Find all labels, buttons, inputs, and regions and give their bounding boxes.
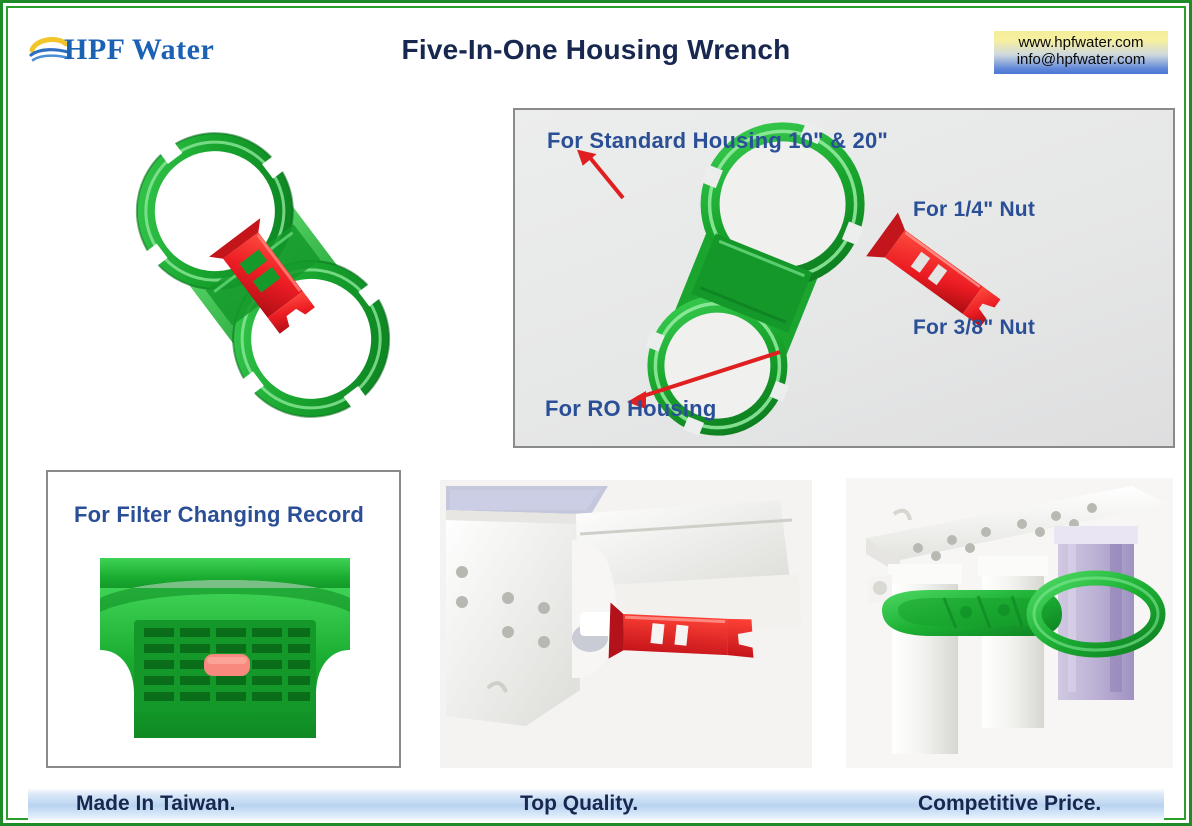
website-text[interactable]: www.hpfwater.com (1000, 34, 1162, 51)
caption-filter-changing-record: For Filter Changing Record (74, 502, 364, 528)
labeled-product-photo: For Standard Housing 10" & 20" For 1/4" … (513, 108, 1175, 448)
caption-quarter-nut: For 1/4" Nut (913, 198, 1035, 222)
contact-box: www.hpfwater.com info@hpfwater.com (994, 31, 1168, 74)
green-wrench-in-use-photo (846, 478, 1173, 768)
footer-tagline-band: Made In Taiwan. Top Quality. Competitive… (28, 788, 1164, 822)
product-hero-photo (48, 103, 478, 448)
red-wrench-in-use-photo (440, 480, 812, 768)
tagline-competitive-price: Competitive Price. (918, 792, 1101, 816)
caption-standard-housing: For Standard Housing 10" & 20" (547, 128, 888, 154)
tagline-made-in-taiwan: Made In Taiwan. (76, 792, 235, 816)
tagline-top-quality: Top Quality. (520, 792, 638, 816)
use-red-photo-surface (440, 480, 812, 768)
record-closeup-photo (100, 558, 350, 738)
use-green-photo-surface (846, 478, 1173, 768)
hero-photo-surface (48, 103, 478, 448)
page-inner-border: HPF Water Five-In-One Housing Wrench www… (6, 6, 1186, 820)
caption-ro-housing: For RO Housing (545, 396, 716, 422)
datasheet-page: HPF Water Five-In-One Housing Wrench www… (0, 0, 1192, 826)
filter-changing-record-panel: For Filter Changing Record (46, 470, 401, 768)
email-text[interactable]: info@hpfwater.com (1000, 51, 1162, 68)
caption-three-eighth-nut: For 3/8" Nut (913, 316, 1035, 340)
page-canvas: HPF Water Five-In-One Housing Wrench www… (8, 8, 1184, 818)
